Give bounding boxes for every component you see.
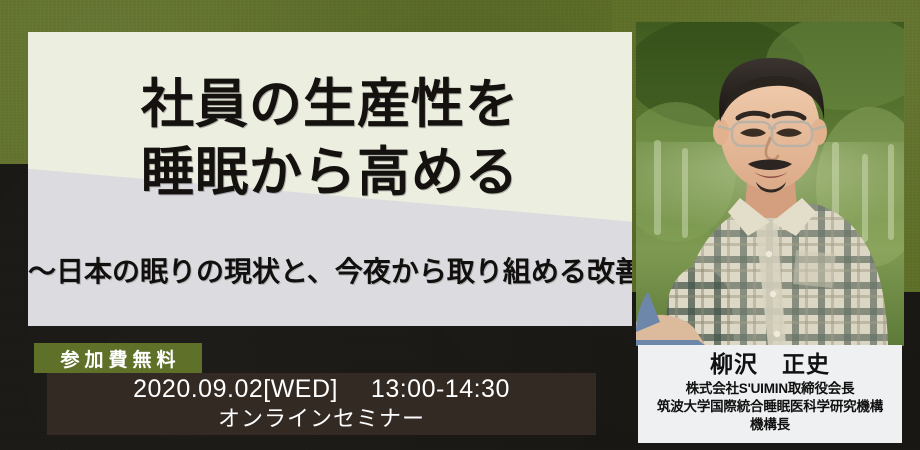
status-badge-free: 参加費無料 xyxy=(34,343,202,373)
page-title: 社員の生産性を 睡眠から高める xyxy=(28,72,632,208)
event-format: オンラインセミナー xyxy=(218,405,425,433)
title-line-1: 社員の生産性を xyxy=(28,72,632,140)
event-info-panel: 2020.09.02[WED] 13:00-14:30 オンラインセミナー xyxy=(47,373,596,435)
speaker-name: 柳沢 正史 xyxy=(710,350,830,380)
seminar-poster: 社員の生産性を 睡眠から高める 〜日本の眠りの現状と、今夜から取り組める改善策〜… xyxy=(0,0,920,450)
speaker-affiliation-line-3: 機構長 xyxy=(750,416,790,434)
speaker-affiliation-line-1: 株式会社S'UIMIN取締役会長 xyxy=(686,380,855,398)
title-line-2: 睡眠から高める xyxy=(28,140,632,208)
speaker-photo xyxy=(636,22,904,346)
speaker-affiliation-line-2: 筑波大学国際統合睡眠医科学研究機構 xyxy=(657,398,883,416)
page-subtitle: 〜日本の眠りの現状と、今夜から取り組める改善策〜 xyxy=(28,250,632,290)
event-datetime: 2020.09.02[WED] 13:00-14:30 xyxy=(133,376,510,402)
speaker-info-card: 柳沢 正史 株式会社S'UIMIN取締役会長 筑波大学国際統合睡眠医科学研究機構… xyxy=(638,345,902,443)
title-card: 社員の生産性を 睡眠から高める 〜日本の眠りの現状と、今夜から取り組める改善策〜 xyxy=(28,32,632,326)
